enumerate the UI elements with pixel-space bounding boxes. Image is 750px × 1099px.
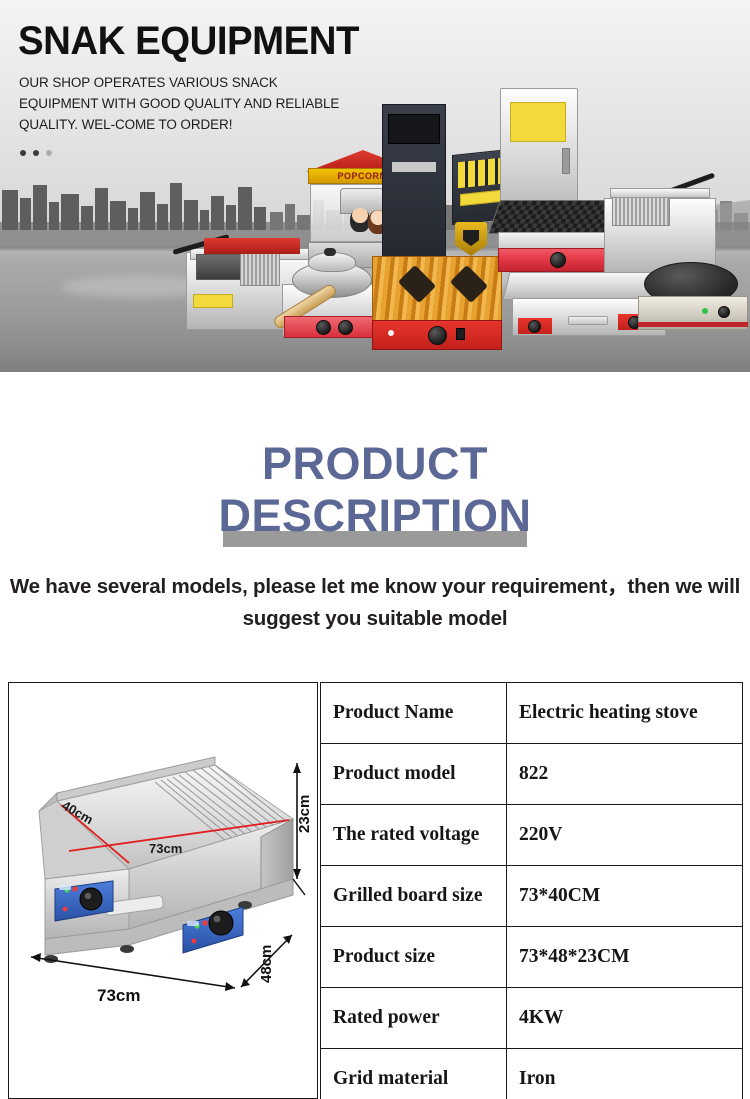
table-row: Product Name Electric heating stove [321,683,743,744]
spec-value: 4KW [507,988,743,1049]
banner-title: SNAK EQUIPMENT [18,19,359,63]
spec-key: Product Name [321,683,507,744]
spec-value: 220V [507,805,743,866]
spec-key: Grid material [321,1049,507,1099]
product-image-panel: 40cm 73cm 73cm 48cm 23cm [8,682,318,1099]
spec-value: 73*48*23CM [507,927,743,988]
table-row: Grid material Iron [321,1049,743,1099]
crepe-maker [644,262,748,344]
table-row: Product model 822 [321,744,743,805]
dim-height-label: 23cm [296,795,313,833]
table-row: Rated power 4KW [321,988,743,1049]
carousel-dot-3[interactable] [46,150,52,156]
table-row: Product size 73*48*23CM [321,927,743,988]
table-row: Grilled board size 73*40CM [321,866,743,927]
dim-board-length-label: 73cm [149,841,182,856]
deep-fryer-right [604,182,716,274]
section-subtitle: We have several models, please let me kn… [0,571,750,635]
carousel-dots[interactable] [20,150,52,156]
heading-line-2: DESCRIPTION [0,492,750,540]
dark-vending-machine [382,104,446,272]
spec-key: Product model [321,744,507,805]
dim-base-width-label: 73cm [97,986,140,1005]
spec-table-body: Product Name Electric heating stove Prod… [321,683,743,1099]
spec-key: The rated voltage [321,805,507,866]
spec-key: Rated power [321,988,507,1049]
heading-line-1: PRODUCT [0,440,750,488]
spec-value: Electric heating stove [507,683,743,744]
carousel-dot-1[interactable] [20,150,26,156]
spec-value: 73*40CM [507,866,743,927]
spec-key: Product size [321,927,507,988]
spec-value: 822 [507,744,743,805]
product-detail-page: POPCORN [0,0,750,1099]
dim-depth-label: 48cm [258,945,275,983]
specification-table: Product Name Electric heating stove Prod… [320,682,743,1099]
spec-key: Grilled board size [321,866,507,927]
spec-value: Iron [507,1049,743,1099]
banner-subtitle: OUR SHOP OPERATES VARIOUS SNACK EQUIPMEN… [19,72,359,135]
electric-griddle-diagram: 40cm 73cm 73cm 48cm 23cm [9,683,318,1099]
waffle-maker [278,228,386,340]
table-row: The rated voltage 220V [321,805,743,866]
carousel-dot-2[interactable] [33,150,39,156]
section-heading: PRODUCT DESCRIPTION [0,440,750,540]
wooden-taiyaki-machine [372,248,502,354]
hero-banner: POPCORN [0,0,750,372]
